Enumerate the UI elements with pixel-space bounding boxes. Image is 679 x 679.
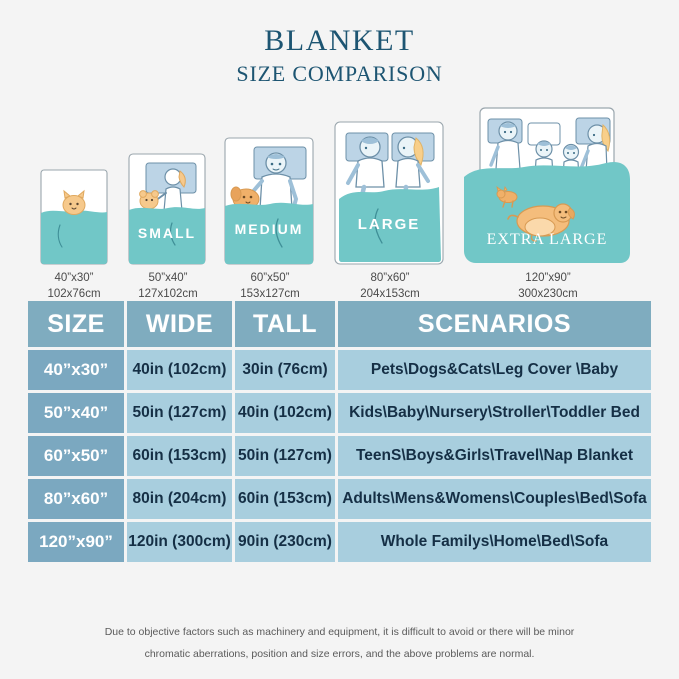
cell-tall: 30in (76cm) <box>235 350 335 390</box>
header-size: SIZE <box>28 301 124 347</box>
header-scenarios: SCENARIOS <box>338 301 651 347</box>
cell-size: 60”x50” <box>28 436 124 476</box>
table-row: 50”x40” 50in (127cm) 40in (102cm) Kids\B… <box>28 393 651 433</box>
table-row: 60”x50” 60in (153cm) 50in (127cm) TeenS\… <box>28 436 651 476</box>
table-row: 80”x60” 80in (204cm) 60in (153cm) Adults… <box>28 479 651 519</box>
blanket-pet-panel-icon <box>40 169 108 265</box>
illustration-panel-3: MEDIUM <box>224 137 314 265</box>
page-title: BLANKET SIZE COMPARISON <box>0 0 679 87</box>
cell-tall: 50in (127cm) <box>235 436 335 476</box>
blanket-adult-panel-icon <box>224 137 314 265</box>
illustration-panel-4: LARGE <box>334 121 444 265</box>
caption-size-1: 40”x30” <box>28 271 120 287</box>
table-row: 120”x90” 120in (300cm) 90in (230cm) Whol… <box>28 522 651 562</box>
caption-size-2: 50”x40” <box>120 271 216 287</box>
cell-scenarios: Pets\Dogs&Cats\Leg Cover \Baby <box>338 350 651 390</box>
caption-size-5: 120”x90” <box>498 271 598 287</box>
table-header-row: SIZE WIDE TALL SCENARIOS <box>28 301 651 347</box>
illustration-panel-2: SMALL <box>128 153 206 265</box>
cell-scenarios: TeenS\Boys&Girls\Travel\Nap Blanket <box>338 436 651 476</box>
disclaimer-line-1: Due to objective factors such as machine… <box>0 622 679 644</box>
cell-tall: 90in (230cm) <box>235 522 335 562</box>
blanket-child-panel-icon <box>128 153 206 265</box>
cell-scenarios: Whole Familys\Home\Bed\Sofa <box>338 522 651 562</box>
title-main: BLANKET <box>0 24 679 57</box>
cell-tall: 60in (153cm) <box>235 479 335 519</box>
cell-size: 80”x60” <box>28 479 124 519</box>
disclaimer-line-2: chromatic aberrations, position and size… <box>0 644 679 666</box>
blanket-size-comparison-infographic: BLANKET SIZE COMPARISON <box>0 0 679 679</box>
illustration-panel-1 <box>40 169 108 265</box>
title-subtitle: SIZE COMPARISON <box>0 61 679 87</box>
cell-wide: 60in (153cm) <box>127 436 232 476</box>
cell-wide: 80in (204cm) <box>127 479 232 519</box>
disclaimer: Due to objective factors such as machine… <box>0 622 679 665</box>
size-comparison-table: SIZE WIDE TALL SCENARIOS 40”x30” 40in (1… <box>25 298 654 565</box>
blanket-couple-panel-icon <box>334 121 444 265</box>
cell-size: 40”x30” <box>28 350 124 390</box>
illustration-panel-5: EXTRA LARGE <box>458 105 636 265</box>
cell-tall: 40in (102cm) <box>235 393 335 433</box>
cell-size: 50”x40” <box>28 393 124 433</box>
caption-size-3: 60”x50” <box>222 271 318 287</box>
cell-wide: 40in (102cm) <box>127 350 232 390</box>
cell-wide: 50in (127cm) <box>127 393 232 433</box>
caption-size-4: 80”x60” <box>342 271 438 287</box>
cell-size: 120”x90” <box>28 522 124 562</box>
cell-scenarios: Kids\Baby\Nursery\Stroller\Toddler Bed <box>338 393 651 433</box>
header-wide: WIDE <box>127 301 232 347</box>
header-tall: TALL <box>235 301 335 347</box>
cell-wide: 120in (300cm) <box>127 522 232 562</box>
table-row: 40”x30” 40in (102cm) 30in (76cm) Pets\Do… <box>28 350 651 390</box>
illustration-row: SMALL <box>0 97 679 265</box>
blanket-family-panel-icon <box>458 105 636 265</box>
cell-scenarios: Adults\Mens&Womens\Couples\Bed\Sofa <box>338 479 651 519</box>
teddy-bear-icon <box>140 191 159 209</box>
